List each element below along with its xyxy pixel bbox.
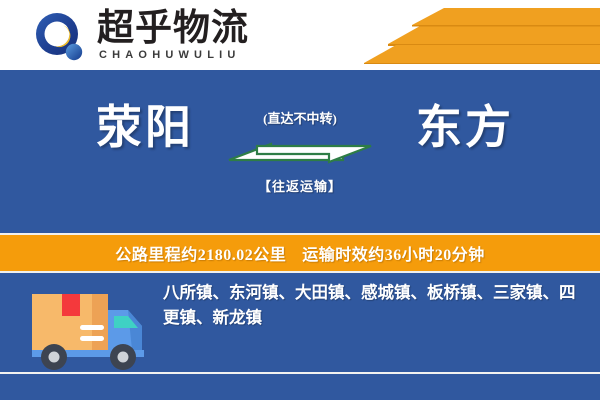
distance-duration-bar: 公路里程约2180.02公里 运输时效约36小时20分钟 xyxy=(0,235,600,271)
bottom-divider xyxy=(0,372,600,374)
brand-name-cn: 超乎物流 xyxy=(97,9,249,49)
logistics-route-banner: 超乎物流 CHAOHUWULIU 荥阳 (直达不中转) xyxy=(0,0,600,400)
brand-name-en: CHAOHUWULIU xyxy=(99,49,241,61)
delivery-truck-icon xyxy=(24,278,154,378)
circle-crescent-logo-icon xyxy=(33,12,89,62)
origin-city: 荥阳 xyxy=(60,100,230,156)
banner-body: 荥阳 (直达不中转) 【往返运输】 东方 公路里程约 xyxy=(0,70,600,400)
round-trip-note: 【往返运输】 xyxy=(225,179,375,195)
bidirectional-arrow-icon xyxy=(225,133,375,173)
banner-header: 超乎物流 CHAOHUWULIU xyxy=(0,0,600,70)
route-middle: (直达不中转) 【往返运输】 xyxy=(225,106,375,214)
direct-service-note: (直达不中转) xyxy=(225,111,375,127)
route-section: 荥阳 (直达不中转) 【往返运输】 东方 xyxy=(0,70,600,232)
covered-towns-list: 八所镇、东河镇、大田镇、感城镇、板桥镇、三家镇、四更镇、新龙镇 xyxy=(163,280,583,330)
orange-speed-stripes-icon xyxy=(340,8,600,64)
info-bar-section: 公路里程约2180.02公里 运输时效约36小时20分钟 xyxy=(0,233,600,273)
divider-below-info-bar xyxy=(0,271,600,273)
distance-text: 公路里程约2180.02公里 xyxy=(115,241,286,265)
destination-city: 东方 xyxy=(380,100,550,156)
duration-text: 运输时效约36小时20分钟 xyxy=(302,241,485,265)
